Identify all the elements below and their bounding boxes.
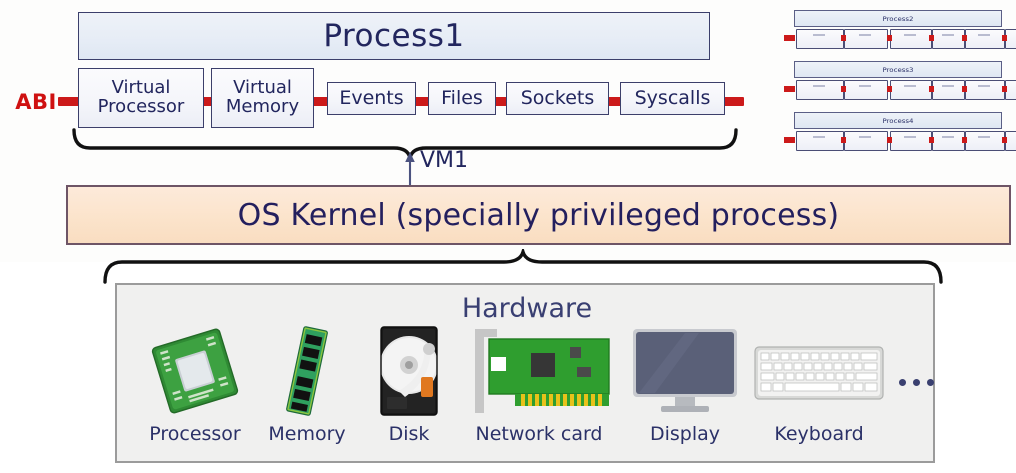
mini-abi-box-0 <box>796 29 844 49</box>
mini-abi-box-2 <box>890 131 932 151</box>
hardware-item-network-card: Network card <box>465 325 613 465</box>
mini-abi-box-tick-0 <box>813 34 825 36</box>
abi-box-label-line2: Memory <box>226 98 299 117</box>
abi-connector-6 <box>722 97 744 106</box>
mini-connector-4 <box>962 137 967 143</box>
abi-box-label-line2: Processor <box>98 98 185 117</box>
abi-box-sockets: Sockets <box>506 82 609 115</box>
mini-abi-box-tick-3 <box>942 136 954 138</box>
mini-abi-box-3 <box>932 29 965 49</box>
mini-process4: Process4 <box>782 112 1004 152</box>
mini-connector-5 <box>1002 35 1007 41</box>
mini-abi-box-tick-4 <box>978 136 990 138</box>
mini-connector-cap-0 <box>784 86 795 92</box>
abi-box-label: Files <box>441 89 483 109</box>
keyboard-icon <box>753 325 885 417</box>
mini-connector-4 <box>962 35 967 41</box>
mini-process2-abi-row <box>782 29 1004 47</box>
mini-abi-box-tick-2 <box>904 34 916 36</box>
mini-connector-1 <box>841 35 846 41</box>
mini-connector-1 <box>841 86 846 92</box>
mini-abi-box-1 <box>844 29 888 49</box>
mini-abi-box-tick-2 <box>904 85 916 87</box>
hardware-label-keyboard: Keyboard <box>728 423 910 445</box>
mini-process3: Process3 <box>782 61 1004 101</box>
mini-process4-title: Process4 <box>882 117 913 124</box>
mini-abi-box-1 <box>844 80 888 100</box>
mini-connector-3 <box>929 137 934 143</box>
abi-box-files: Files <box>428 82 496 115</box>
mini-abi-box-tick-1 <box>859 85 871 87</box>
os-kernel-bar: OS Kernel (specially privileged process) <box>66 185 1011 245</box>
mini-connector-3 <box>929 86 934 92</box>
mini-abi-box-0 <box>796 131 844 151</box>
mini-abi-box-2 <box>890 80 932 100</box>
abi-box-label: Sockets <box>521 89 595 109</box>
diagram-canvas: Process1 ABI VirtualProcessorVirtualMemo… <box>0 0 1016 473</box>
mini-abi-box-tick-1 <box>859 34 871 36</box>
mini-abi-box-4 <box>965 131 1005 151</box>
abi-box-label: Syscalls <box>635 89 711 109</box>
mini-connector-2 <box>887 35 892 41</box>
mini-abi-box-tick-1 <box>859 136 871 138</box>
mini-abi-box-3 <box>932 80 965 100</box>
mini-connector-1 <box>841 137 846 143</box>
os-kernel-label: OS Kernel (specially privileged process) <box>238 198 840 233</box>
more-devices-ellipsis-icon <box>899 377 939 387</box>
mini-connector-3 <box>929 35 934 41</box>
mini-abi-box-tick-4 <box>978 85 990 87</box>
vm1-label: VM1 <box>420 148 468 173</box>
monitor-icon <box>625 325 745 417</box>
process1-bar: Process1 <box>78 12 710 60</box>
mini-connector-4 <box>962 86 967 92</box>
mini-process2: Process2 <box>782 10 1004 50</box>
process1-title: Process1 <box>323 18 464 54</box>
mini-process3-bar: Process3 <box>794 61 1002 78</box>
ram-stick-icon <box>257 325 357 417</box>
abi-box-events: Events <box>327 82 416 115</box>
mini-abi-box-tick-3 <box>942 85 954 87</box>
abi-connector-0 <box>58 97 80 106</box>
mini-abi-box-tick-4 <box>978 34 990 36</box>
mini-abi-box-3 <box>932 131 965 151</box>
mini-connector-5 <box>1002 86 1007 92</box>
mini-process2-bar: Process2 <box>794 10 1002 27</box>
mini-connector-2 <box>887 86 892 92</box>
hardware-panel: Hardware Processor <box>115 283 935 463</box>
hardware-title: Hardware <box>117 293 937 324</box>
mini-connector-cap-0 <box>784 35 795 41</box>
hardware-item-display: Display <box>625 325 745 465</box>
mini-abi-box-tick-3 <box>942 34 954 36</box>
mini-process2-title: Process2 <box>882 15 913 22</box>
mini-process3-title: Process3 <box>882 66 913 73</box>
mini-connector-2 <box>887 137 892 143</box>
mini-abi-box-0 <box>796 80 844 100</box>
network-card-icon <box>465 325 613 417</box>
mini-connector-cap-0 <box>784 137 795 143</box>
hardware-item-keyboard: Keyboard <box>753 325 885 465</box>
mini-abi-box-2 <box>890 29 932 49</box>
mini-process4-abi-row <box>782 131 1004 149</box>
mini-abi-box-4 <box>965 80 1005 100</box>
mini-abi-box-4 <box>965 29 1005 49</box>
abi-label: ABI <box>8 88 64 116</box>
mini-abi-box-1 <box>844 131 888 151</box>
mini-abi-box-tick-0 <box>813 85 825 87</box>
mini-connector-5 <box>1002 137 1007 143</box>
hard-disk-icon <box>359 325 459 417</box>
abi-box-syscalls: Syscalls <box>620 82 725 115</box>
abi-box-label: Events <box>339 89 403 109</box>
mini-abi-box-tick-0 <box>813 136 825 138</box>
mini-abi-box-tick-2 <box>904 136 916 138</box>
cpu-chip-icon <box>135 325 255 417</box>
abi-box-virtual-processor: VirtualProcessor <box>78 68 204 128</box>
mini-process4-bar: Process4 <box>794 112 1002 129</box>
mini-process3-abi-row <box>782 80 1004 98</box>
abi-box-virtual-memory: VirtualMemory <box>211 68 314 128</box>
